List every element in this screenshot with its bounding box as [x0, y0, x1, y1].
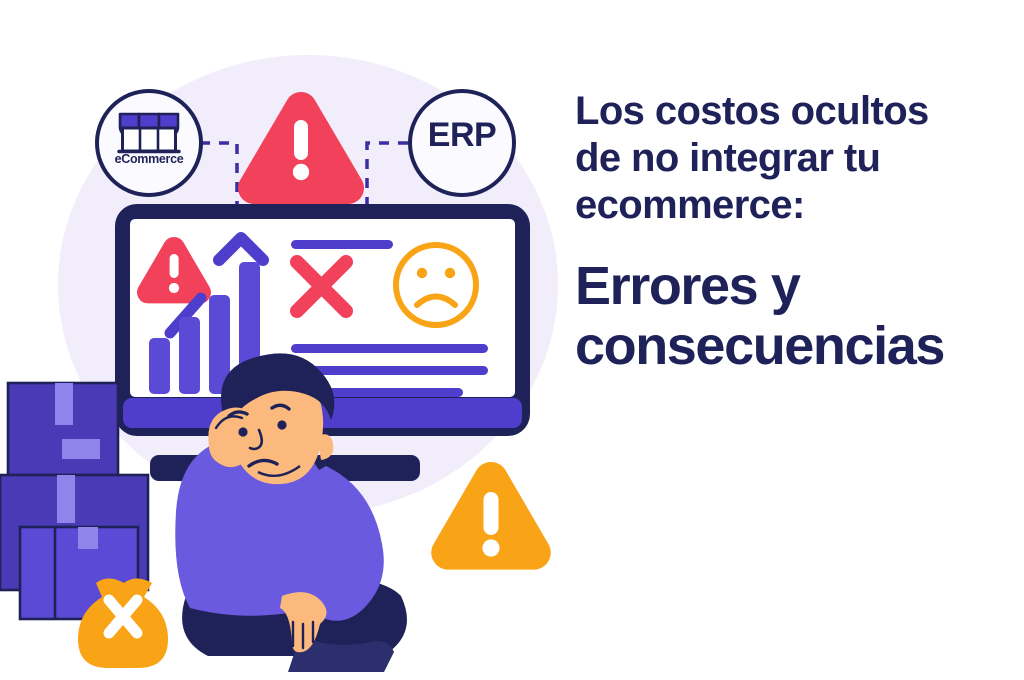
- headline-title: Errores y consecuencias: [575, 256, 1005, 377]
- headline-block: Los costos ocultos de no integrar tu eco…: [575, 88, 1005, 377]
- badge-ecommerce[interactable]: [97, 91, 201, 195]
- headline-subtitle: Los costos ocultos de no integrar tu eco…: [575, 88, 1005, 230]
- badge-erp[interactable]: [410, 91, 514, 195]
- storefront-icon: [119, 114, 179, 152]
- poster-canvas: eCommerce ERP Los costos ocultos de no i…: [0, 0, 1024, 680]
- screen-text-line-2: [291, 344, 488, 353]
- alert-triangle-red-top: [238, 92, 364, 204]
- illustration-group: eCommerce ERP: [0, 0, 560, 680]
- screen-text-line-1: [291, 240, 393, 249]
- alert-triangle-orange-bottom: [431, 462, 550, 570]
